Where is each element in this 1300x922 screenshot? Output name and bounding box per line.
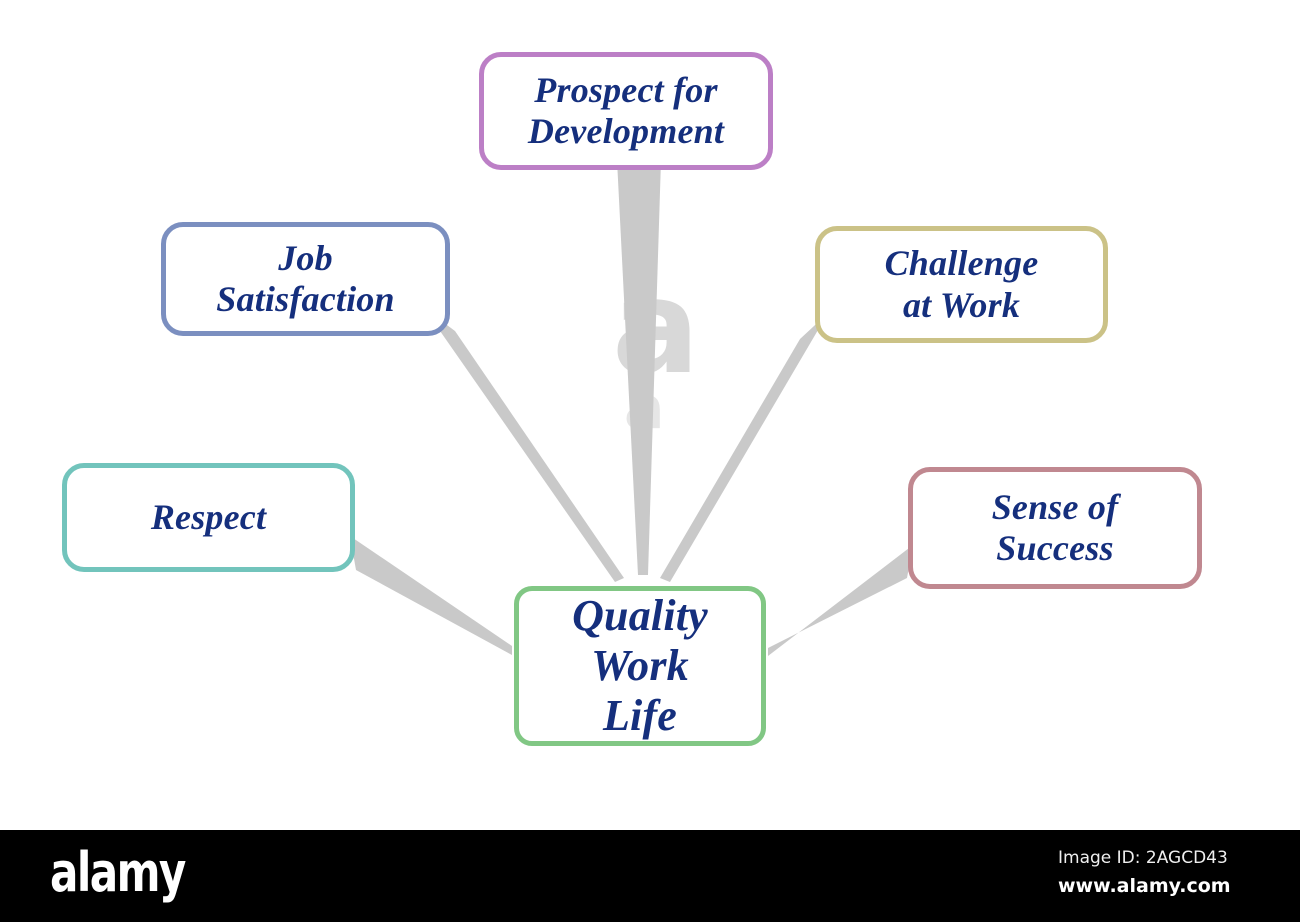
node-label-prospect-for-development: Prospect for Development <box>528 70 724 152</box>
node-label-quality-work-life: Quality Work Life <box>572 591 708 741</box>
node-label-respect: Respect <box>151 497 266 538</box>
image-id-label: Image ID: 2AGCD43 <box>1058 846 1278 872</box>
connector-job-satisfaction <box>424 308 624 582</box>
connector-challenge-at-work <box>660 313 828 582</box>
node-label-job-satisfaction: Job Satisfaction <box>216 238 394 320</box>
node-label-challenge-at-work: Challenge at Work <box>885 243 1039 325</box>
stock-watermark-bar: alamy Image ID: 2AGCD43 www.alamy.com <box>0 830 1300 922</box>
connector-respect <box>350 536 512 655</box>
node-quality-work-life[interactable]: Quality Work Life <box>514 586 766 746</box>
connector-sense-of-success <box>768 545 913 656</box>
alamy-url-label: www.alamy.com <box>1058 872 1278 901</box>
alamy-logo: alamy <box>50 846 185 900</box>
node-challenge-at-work[interactable]: Challenge at Work <box>815 226 1108 343</box>
screenshot-root: a a Quality Work Life Job Satisfaction P… <box>0 0 1300 922</box>
node-respect[interactable]: Respect <box>62 463 355 572</box>
node-job-satisfaction[interactable]: Job Satisfaction <box>161 222 450 336</box>
footer-meta: Image ID: 2AGCD43 www.alamy.com <box>1058 846 1278 900</box>
connector-prospect-for-development <box>617 160 661 575</box>
node-sense-of-success[interactable]: Sense of Success <box>908 467 1202 589</box>
node-label-sense-of-success: Sense of Success <box>992 487 1119 569</box>
node-prospect-for-development[interactable]: Prospect for Development <box>479 52 773 170</box>
diagram-canvas: a a Quality Work Life Job Satisfaction P… <box>0 0 1300 830</box>
